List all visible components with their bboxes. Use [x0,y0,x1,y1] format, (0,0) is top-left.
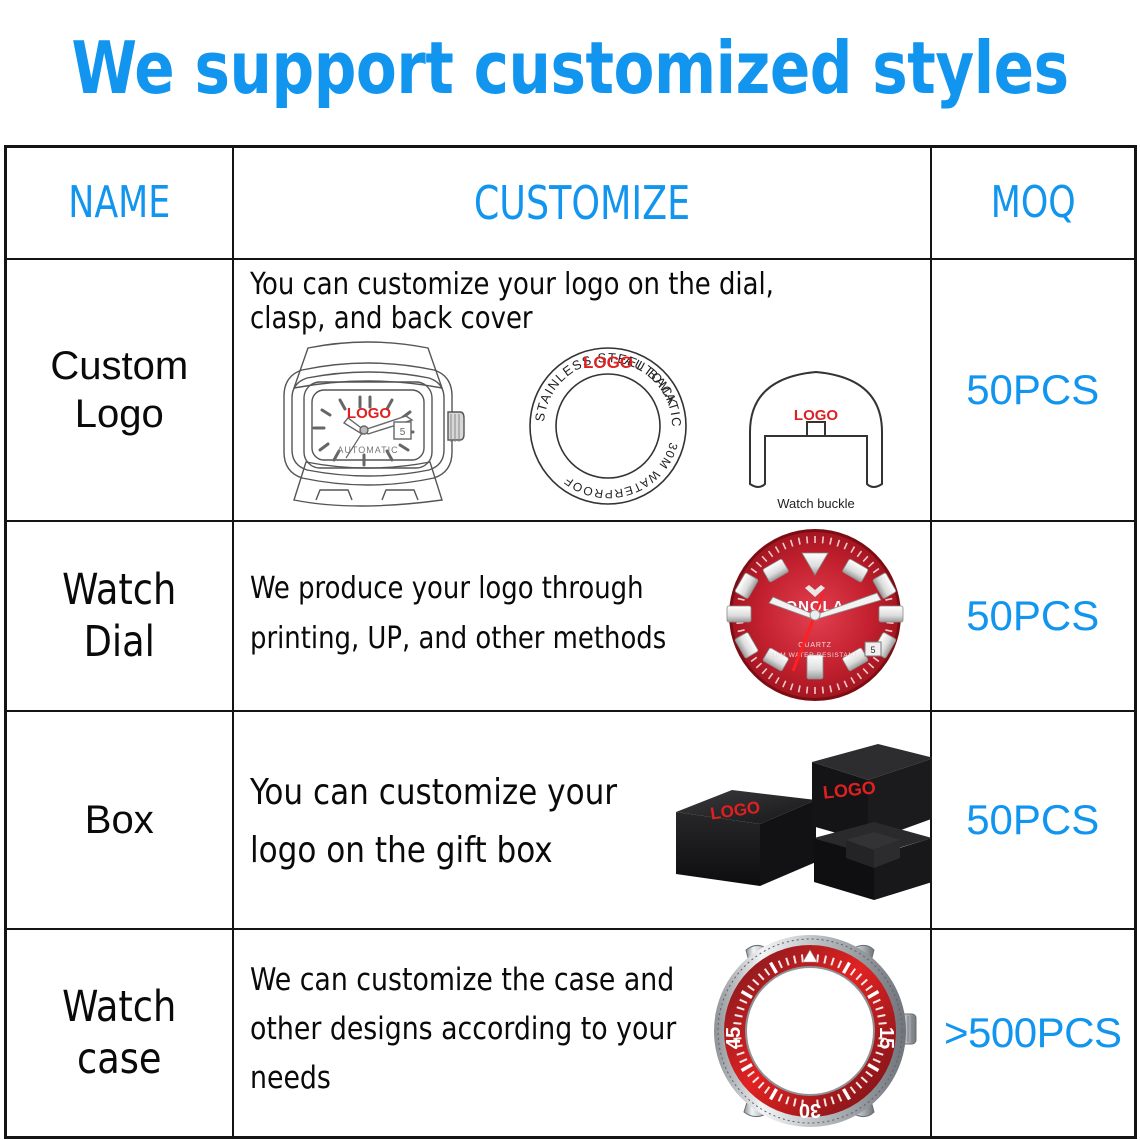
row-name-box: Box [6,711,233,929]
row-description: We produce your logo through printing, U… [250,564,672,664]
closed-gift-box: LOGO [676,790,816,886]
dial-water-resistant-text: 10M WATER RESISTANT [771,652,857,659]
row-description: You can customize your logo on the gift … [250,764,663,880]
row-name-text: Watch Dial [18,564,220,668]
row-moq-watch-dial: 50PCS [931,521,1136,711]
caseback-logo-text: LOGO [582,353,632,372]
wristwatch-line-art: 5 [284,342,464,506]
row-name-text: Custom Logo [13,342,226,438]
row-customize-box: You can customize your logo on the gift … [233,711,931,929]
header-label-customize: CUSTOMIZE [275,179,887,227]
moq-value: >500PCS [932,1010,1135,1056]
row-moq-watch-case: >500PCS [931,929,1136,1138]
row-name-custom-logo: Custom Logo [6,259,233,521]
page-title: We support customized styles [46,26,1095,110]
moq-value: 50PCS [932,797,1135,843]
row-customize-custom-logo: You can customize your logo on the dial,… [233,259,931,521]
row-description: You can customize your logo on the dial,… [250,268,893,336]
watch-dial-automatic-text: AUTOMATIC [337,445,398,455]
table-row: Watch case We can customize the case and… [6,929,1136,1138]
customization-table-page: We support customized styles NAME CUSTOM… [0,0,1140,1140]
row-name-text: Box [13,796,226,844]
row-customize-watch-case: We can customize the case and other desi… [233,929,931,1138]
header-cell-moq: MOQ [931,147,1136,259]
buckle-caption-text: Watch buckle [777,496,855,511]
table-row: Box You can customize your logo on the g… [6,711,1136,929]
moq-value: 50PCS [932,593,1135,639]
bezel-mark-45: 45 [723,1026,745,1048]
moq-value: 50PCS [932,367,1135,413]
table-row: Custom Logo You can customize your logo … [6,259,1136,521]
row-name-watch-dial: Watch Dial [6,521,233,711]
row-moq-custom-logo: 50PCS [931,259,1136,521]
watch-case-illustration: 15 30 45 [704,926,932,1136]
customization-table: NAME CUSTOMIZE MOQ Custom Logo You can c… [4,145,1137,1139]
open-gift-box: LOGO [812,744,932,900]
svg-text:5: 5 [399,427,405,438]
row-customize-watch-dial: We produce your logo through printing, U… [233,521,931,711]
table-row: Watch Dial We produce your logo through … [6,521,1136,711]
buckle-line-art [750,372,882,487]
gift-box-illustration: LOGO LOGO [664,734,932,902]
row-moq-box: 50PCS [931,711,1136,929]
red-watch-dial-illustration: ONOLA QUARTZ 10M WATER RESISTANT 5 [702,526,928,704]
watch-dial-logo-text: LOGO [346,405,390,422]
buckle-logo-text: LOGO [793,407,837,424]
header-label-moq: MOQ [944,179,1122,227]
custom-logo-illustration: 5 LOGO AUTOMATIC [242,334,926,514]
row-name-text: Watch case [18,981,220,1085]
header-cell-name: NAME [6,147,233,259]
header-label-name: NAME [20,179,218,227]
bezel-mark-15: 15 [875,1026,897,1048]
row-description: We can customize the case and other desi… [250,956,730,1103]
row-name-watch-case: Watch case [6,929,233,1138]
header-cell-customize: CUSTOMIZE [233,147,931,259]
svg-text:30M WATERPROOF: 30M WATERPROOF [560,440,680,500]
bezel-mark-30: 30 [798,1099,820,1121]
table-header-row: NAME CUSTOMIZE MOQ [6,147,1136,259]
dial-date-text: 5 [870,645,875,655]
